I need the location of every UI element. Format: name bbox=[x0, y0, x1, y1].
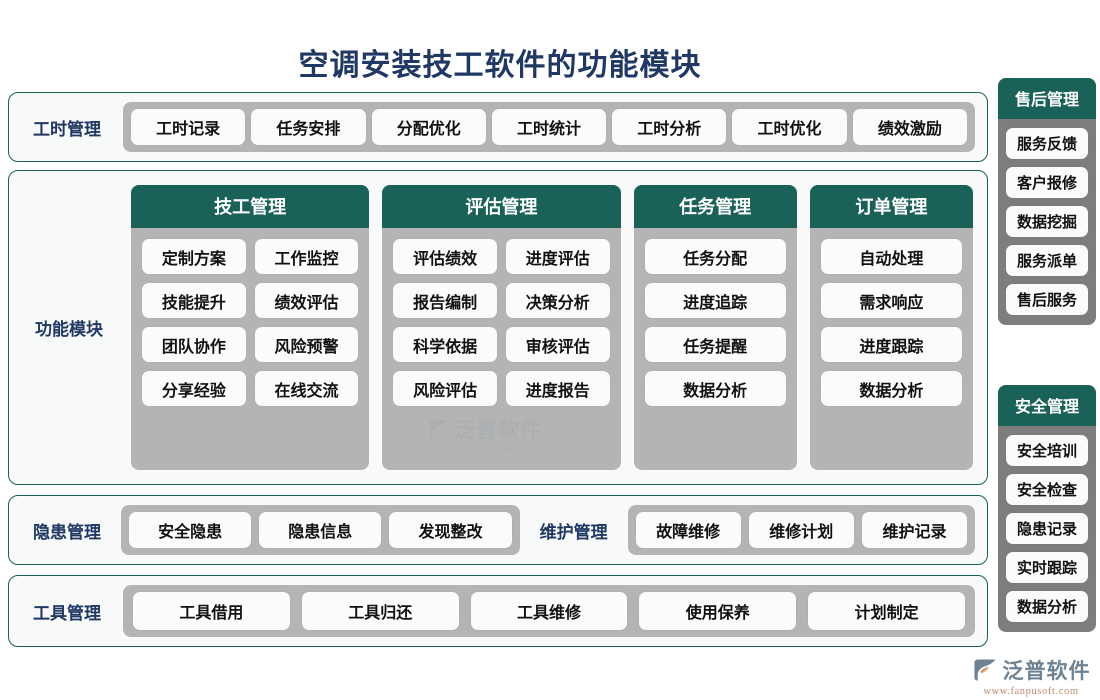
section-tools: 工具管理 工具借用工具归还工具维修使用保养计划制定 bbox=[8, 575, 988, 647]
module-group-header-2: 任务管理 bbox=[634, 185, 797, 228]
hazard-pill-0[interactable]: 安全隐患 bbox=[129, 512, 251, 548]
worktime-pill-3[interactable]: 工时统计 bbox=[492, 109, 606, 145]
worktime-pill-6[interactable]: 绩效激励 bbox=[853, 109, 967, 145]
module-group-header-0: 技工管理 bbox=[131, 185, 369, 228]
sidebar-panel-header-safety: 安全管理 bbox=[998, 385, 1096, 426]
maintenance-pill-0[interactable]: 故障维修 bbox=[636, 512, 741, 548]
module-group-1: 评估管理评估绩效进度评估报告编制决策分析科学依据审核评估风险评估进度报告 bbox=[382, 185, 620, 470]
hazard-pill-2[interactable]: 发现整改 bbox=[389, 512, 511, 548]
maintenance-pill-strip: 故障维修维修计划维护记录 bbox=[628, 505, 975, 555]
module-pill-2-0[interactable]: 任务分配 bbox=[645, 239, 786, 274]
sidebar-panel-aftersales: 售后管理 服务反馈客户报修数据挖掘服务派单售后服务 bbox=[998, 78, 1096, 325]
worktime-pill-2[interactable]: 分配优化 bbox=[372, 109, 486, 145]
tools-pill-4[interactable]: 计划制定 bbox=[808, 592, 965, 630]
module-pill-1-5[interactable]: 审核评估 bbox=[506, 327, 610, 362]
sidebar-pill-0-4[interactable]: 售后服务 bbox=[1006, 284, 1088, 315]
module-pill-3-3[interactable]: 数据分析 bbox=[821, 371, 962, 406]
module-pill-1-7[interactable]: 进度报告 bbox=[506, 371, 610, 406]
hazard-pill-1[interactable]: 隐患信息 bbox=[259, 512, 381, 548]
module-pill-3-1[interactable]: 需求响应 bbox=[821, 283, 962, 318]
sidebar-pill-0-2[interactable]: 数据挖掘 bbox=[1006, 206, 1088, 237]
hazard-pill-strip: 安全隐患隐患信息发现整改 bbox=[121, 505, 520, 555]
module-pill-1-4[interactable]: 科学依据 bbox=[393, 327, 497, 362]
sidebar-pill-1-0[interactable]: 安全培训 bbox=[1006, 435, 1088, 466]
sidebar-pill-1-4[interactable]: 数据分析 bbox=[1006, 591, 1088, 622]
section-label-worktime: 工时管理 bbox=[19, 115, 115, 140]
section-label-function-modules: 功能模块 bbox=[35, 315, 103, 340]
module-pill-0-4[interactable]: 团队协作 bbox=[142, 327, 246, 362]
module-pill-1-3[interactable]: 决策分析 bbox=[506, 283, 610, 318]
sidebar-panel-body-aftersales: 服务反馈客户报修数据挖掘服务派单售后服务 bbox=[998, 119, 1096, 325]
worktime-pill-4[interactable]: 工时分析 bbox=[612, 109, 726, 145]
diagram-canvas: 空调安装技工软件的功能模块 工时管理 工时记录任务安排分配优化工时统计工时分析工… bbox=[0, 0, 1100, 700]
sidebar-panel-safety: 安全管理 安全培训安全检查隐患记录实时跟踪数据分析 bbox=[998, 385, 1096, 632]
module-group-0: 技工管理定制方案工作监控技能提升绩效评估团队协作风险预警分享经验在线交流 bbox=[131, 185, 369, 470]
module-group-2: 任务管理任务分配进度追踪任务提醒数据分析 bbox=[634, 185, 797, 470]
module-pill-2-3[interactable]: 数据分析 bbox=[645, 371, 786, 406]
maintenance-pill-1[interactable]: 维修计划 bbox=[749, 512, 854, 548]
maintenance-pill-2[interactable]: 维护记录 bbox=[862, 512, 967, 548]
module-pill-1-0[interactable]: 评估绩效 bbox=[393, 239, 497, 274]
module-pill-0-6[interactable]: 分享经验 bbox=[142, 371, 246, 406]
module-group-body-3: 自动处理需求响应进度跟踪数据分析 bbox=[810, 228, 973, 470]
sidebar-panel-header-aftersales: 售后管理 bbox=[998, 78, 1096, 119]
module-pill-3-0[interactable]: 自动处理 bbox=[821, 239, 962, 274]
module-group-header-1: 评估管理 bbox=[382, 185, 620, 228]
module-pill-2-2[interactable]: 任务提醒 bbox=[645, 327, 786, 362]
module-pill-0-2[interactable]: 技能提升 bbox=[142, 283, 246, 318]
tools-pill-strip: 工具借用工具归还工具维修使用保养计划制定 bbox=[123, 585, 975, 637]
module-pill-0-0[interactable]: 定制方案 bbox=[142, 239, 246, 274]
section-label-hazard: 隐患管理 bbox=[19, 518, 115, 543]
tools-pill-0[interactable]: 工具借用 bbox=[133, 592, 290, 630]
module-pill-2-1[interactable]: 进度追踪 bbox=[645, 283, 786, 318]
sidebar-pill-1-2[interactable]: 隐患记录 bbox=[1006, 513, 1088, 544]
brand-name: 泛普软件 bbox=[1003, 655, 1091, 685]
section-worktime: 工时管理 工时记录任务安排分配优化工时统计工时分析工时优化绩效激励 bbox=[8, 92, 988, 162]
module-pill-1-6[interactable]: 风险评估 bbox=[393, 371, 497, 406]
module-pill-1-1[interactable]: 进度评估 bbox=[506, 239, 610, 274]
sidebar-pill-1-1[interactable]: 安全检查 bbox=[1006, 474, 1088, 505]
sidebar-pill-0-3[interactable]: 服务派单 bbox=[1006, 245, 1088, 276]
module-group-body-0: 定制方案工作监控技能提升绩效评估团队协作风险预警分享经验在线交流 bbox=[131, 228, 369, 470]
module-pill-1-2[interactable]: 报告编制 bbox=[393, 283, 497, 318]
module-pill-0-5[interactable]: 风险预警 bbox=[255, 327, 359, 362]
module-group-container: 技工管理定制方案工作监控技能提升绩效评估团队协作风险预警分享经验在线交流评估管理… bbox=[131, 185, 973, 470]
page-title: 空调安装技工软件的功能模块 bbox=[0, 40, 1000, 84]
section-label-tools: 工具管理 bbox=[19, 599, 115, 624]
section-function-modules: 功能模块 技工管理定制方案工作监控技能提升绩效评估团队协作风险预警分享经验在线交… bbox=[8, 170, 988, 485]
sidebar-pill-1-3[interactable]: 实时跟踪 bbox=[1006, 552, 1088, 583]
module-pill-0-1[interactable]: 工作监控 bbox=[255, 239, 359, 274]
brand-url: www.fanpusoft.com bbox=[983, 686, 1078, 697]
sidebar-pill-0-1[interactable]: 客户报修 bbox=[1006, 167, 1088, 198]
sidebar-panel-body-safety: 安全培训安全检查隐患记录实时跟踪数据分析 bbox=[998, 426, 1096, 632]
brand-logo: 泛普软件 www.fanpusoft.com bbox=[962, 655, 1100, 697]
brand-logo-icon bbox=[972, 657, 998, 683]
sidebar-pill-0-0[interactable]: 服务反馈 bbox=[1006, 128, 1088, 159]
worktime-pill-strip: 工时记录任务安排分配优化工时统计工时分析工时优化绩效激励 bbox=[123, 102, 975, 152]
tools-pill-1[interactable]: 工具归还 bbox=[302, 592, 459, 630]
module-pill-0-3[interactable]: 绩效评估 bbox=[255, 283, 359, 318]
module-group-body-2: 任务分配进度追踪任务提醒数据分析 bbox=[634, 228, 797, 470]
module-group-3: 订单管理自动处理需求响应进度跟踪数据分析 bbox=[810, 185, 973, 470]
section-hazard-maintenance: 隐患管理 安全隐患隐患信息发现整改 维护管理 故障维修维修计划维护记录 bbox=[8, 495, 988, 565]
section-label-maintenance: 维护管理 bbox=[526, 518, 622, 543]
tools-pill-3[interactable]: 使用保养 bbox=[639, 592, 796, 630]
tools-pill-2[interactable]: 工具维修 bbox=[471, 592, 628, 630]
worktime-pill-0[interactable]: 工时记录 bbox=[131, 109, 245, 145]
module-group-body-1: 评估绩效进度评估报告编制决策分析科学依据审核评估风险评估进度报告 bbox=[382, 228, 620, 470]
module-group-header-3: 订单管理 bbox=[810, 185, 973, 228]
worktime-pill-1[interactable]: 任务安排 bbox=[251, 109, 365, 145]
module-pill-3-2[interactable]: 进度跟踪 bbox=[821, 327, 962, 362]
worktime-pill-5[interactable]: 工时优化 bbox=[732, 109, 846, 145]
module-pill-0-7[interactable]: 在线交流 bbox=[255, 371, 359, 406]
